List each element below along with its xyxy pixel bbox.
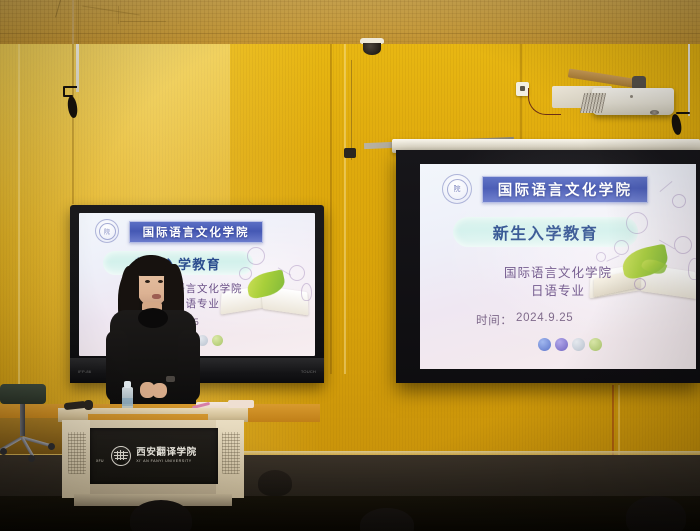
microphone-arm xyxy=(676,112,690,114)
presenter-eye xyxy=(145,280,150,283)
chair-post xyxy=(20,404,25,436)
presenter-collar xyxy=(138,308,168,328)
slide-header-band: 国际语言文化学院 xyxy=(129,221,263,243)
audience-silhouette xyxy=(626,496,686,531)
microphone-arm xyxy=(64,86,77,88)
chair-wheel xyxy=(0,448,7,455)
projector-vent xyxy=(580,93,606,113)
doodle-circle xyxy=(674,236,692,254)
slide-subtitle-line2: 日语专业 xyxy=(79,296,315,311)
slide-subtitle-line2: 日语专业 xyxy=(420,280,696,299)
ceiling-seam xyxy=(78,0,79,50)
wall-sensor-box xyxy=(344,148,356,158)
projector-indicator xyxy=(630,95,633,98)
presenter-wristwatch xyxy=(166,376,175,382)
ceiling-seam xyxy=(118,6,119,24)
doodle-circle xyxy=(239,267,252,280)
social-dot-3-icon xyxy=(572,338,585,351)
audience-silhouette xyxy=(258,470,292,496)
bottle-cap xyxy=(124,381,131,388)
podium-microphone-head[interactable] xyxy=(84,400,93,410)
ceiling-seam xyxy=(82,5,139,15)
doodle-circle xyxy=(247,247,265,265)
college-emblem-label: 院 xyxy=(99,223,116,240)
wall-panel-seam xyxy=(344,44,346,374)
ceiling-wire xyxy=(351,60,352,160)
presenter-arm-right xyxy=(178,330,200,402)
social-dot-4-icon xyxy=(212,335,223,346)
presenter-hand xyxy=(152,383,167,398)
social-dot-2-icon xyxy=(555,338,568,351)
wall-panel-seam xyxy=(72,44,74,204)
doodle-line xyxy=(660,181,673,192)
lecture-hall-photo: 院 国际语言文化学院 新生入学教育 国际语 xyxy=(0,0,700,531)
wall-panel-seam xyxy=(18,44,20,404)
university-name-block: 西安翻译学院 XI' AN FANYI UNIVERSITY xyxy=(136,448,196,464)
social-dot-1-icon xyxy=(538,338,551,351)
college-emblem: 院 xyxy=(442,174,472,204)
slide-header-band: 国际语言文化学院 xyxy=(482,176,648,203)
doodle-circle xyxy=(626,212,648,234)
doodle-circle xyxy=(596,252,606,262)
university-name-en: XI' AN FANYI UNIVERSITY xyxy=(136,460,191,464)
wall-panel-seam xyxy=(612,385,614,455)
doodle-line xyxy=(606,255,619,262)
outlet-socket xyxy=(520,86,525,91)
ceiling-seam xyxy=(120,21,166,22)
projection-screen[interactable]: 院 国际语言文化学院 新生入学教育 国际语 xyxy=(396,150,700,383)
podium-speaker-grill xyxy=(222,432,240,474)
paper-sheet xyxy=(228,400,254,408)
chair-wheel xyxy=(48,443,55,450)
slide-subtitle-line1: 国际语言文化学院 xyxy=(79,281,315,296)
slide-social-dots xyxy=(538,338,606,351)
podium-speaker-grill xyxy=(68,432,86,474)
university-logo-mark: XFU xyxy=(96,459,104,463)
doodle-circle xyxy=(672,194,686,208)
college-emblem-label: 院 xyxy=(447,179,468,200)
ceiling-seam xyxy=(55,0,61,17)
presentation-slide-main: 院 国际语言文化学院 新生入学教育 国际语 xyxy=(420,164,696,369)
doodle-circle xyxy=(614,240,629,255)
wall-panel-seam xyxy=(618,385,620,455)
hanging-microphone-left xyxy=(76,44,79,92)
podium-nameplate: 西安翻译学院 XI' AN FANYI UNIVERSITY xyxy=(90,428,218,484)
college-emblem: 院 xyxy=(95,219,119,243)
doodle-circle xyxy=(289,265,305,281)
ceiling-seam xyxy=(0,33,700,34)
university-name-cn: 西安翻译学院 xyxy=(136,448,196,458)
presenter-eye xyxy=(158,280,163,283)
social-dot-4-icon xyxy=(589,338,602,351)
panel-model-label: IFP-86 xyxy=(78,369,91,374)
panel-touch-label: TOUCH xyxy=(301,369,316,374)
presenter-mouth xyxy=(152,294,161,299)
university-logo-icon xyxy=(111,446,131,466)
wall-panel-seam xyxy=(330,44,332,374)
slide-date-label: 时间： xyxy=(476,312,513,328)
acoustic-ceiling xyxy=(0,0,700,50)
slide-subtitle-line1: 国际语言文化学院 xyxy=(420,262,696,281)
chair-wheel xyxy=(28,455,35,462)
slide-date-value: 2024.9.25 xyxy=(516,312,573,324)
ceiling-seam xyxy=(72,0,74,50)
hanging-microphone-right xyxy=(688,44,690,116)
bottle-label xyxy=(122,398,133,406)
projector-lens xyxy=(650,110,659,115)
camera-dome-lens xyxy=(363,43,381,55)
office-chair xyxy=(0,384,46,404)
